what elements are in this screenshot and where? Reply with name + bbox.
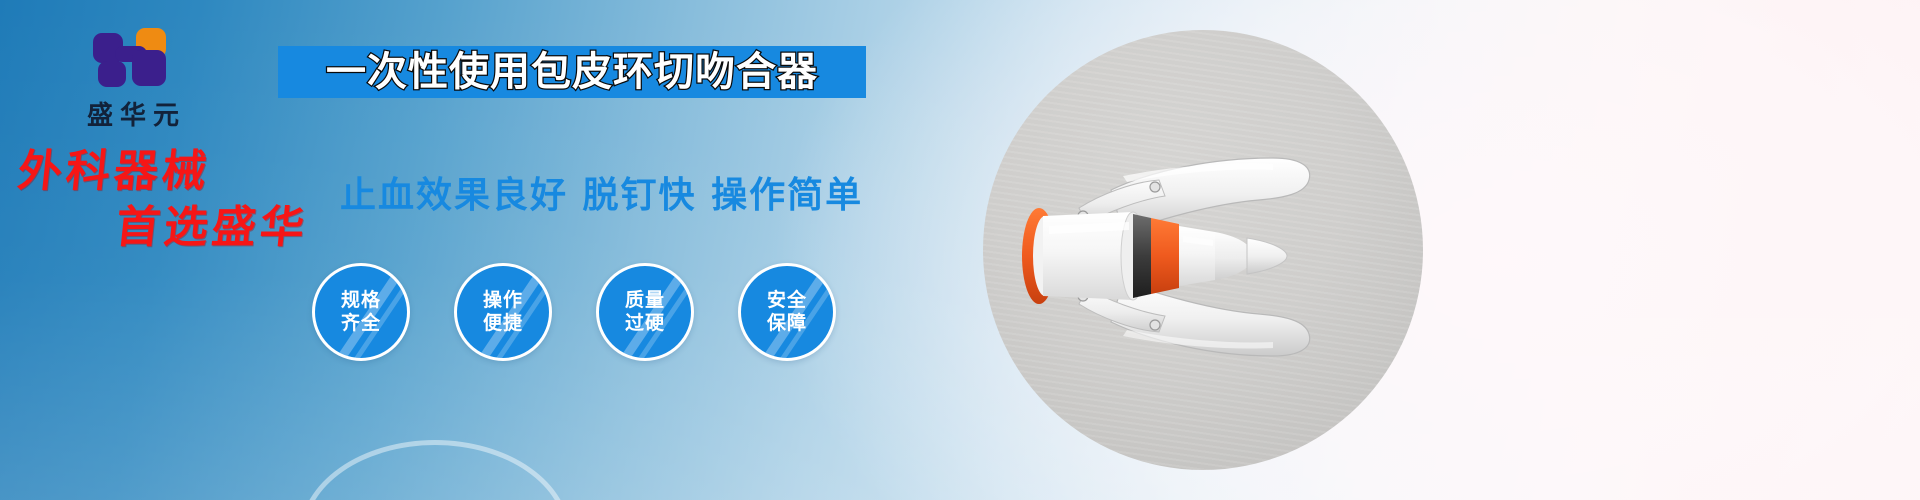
logo-mark-icon <box>93 28 173 90</box>
feature-badge-operation[interactable]: 操作 便捷 <box>454 263 552 361</box>
feature-line-1: 质量 <box>625 289 665 311</box>
subtitle-text: 止血效果良好 脱钉快 操作简单 <box>340 166 863 218</box>
company-logo[interactable]: 盛华元 <box>63 28 203 132</box>
feature-badge-label: 质量 过硬 <box>625 289 665 335</box>
feature-line-2: 保障 <box>767 312 807 334</box>
company-name: 盛华元 <box>63 95 203 132</box>
feature-line-2: 便捷 <box>483 312 523 334</box>
feature-badge-label: 安全 保障 <box>767 289 807 335</box>
slogan-line-1: 外科器械 <box>15 148 360 196</box>
product-banner: 盛华元 外科器械 首选盛华 一次性使用包皮环切吻合器 止血效果良好 脱钉快 操作… <box>0 0 1920 500</box>
logo-square-bottom-right <box>132 50 166 86</box>
feature-line-2: 齐全 <box>341 312 381 334</box>
product-title-bar: 一次性使用包皮环切吻合器 <box>278 46 866 98</box>
feature-line-1: 安全 <box>767 289 807 311</box>
decorative-arc <box>300 440 570 500</box>
feature-badge-specifications[interactable]: 规格 齐全 <box>312 263 410 361</box>
feature-badge-label: 操作 便捷 <box>483 289 523 335</box>
logo-square-bottom-left <box>98 61 126 87</box>
product-photo <box>983 30 1423 470</box>
feature-line-2: 过硬 <box>625 312 665 334</box>
feature-line-1: 规格 <box>341 289 381 311</box>
slogan-line-2: 首选盛华 <box>113 204 360 252</box>
feature-badge-quality[interactable]: 质量 过硬 <box>596 263 694 361</box>
feature-badge-safety[interactable]: 安全 保障 <box>738 263 836 361</box>
feature-line-1: 操作 <box>483 289 523 311</box>
feature-badge-label: 规格 齐全 <box>341 289 381 335</box>
page-title: 一次性使用包皮环切吻合器 <box>326 49 818 95</box>
red-calligraphy-slogan: 外科器械 首选盛华 <box>18 148 358 252</box>
circumcision-stapler-illustration <box>983 30 1423 470</box>
feature-badge-list: 规格 齐全 操作 便捷 质量 过硬 安全 保障 <box>312 263 836 361</box>
